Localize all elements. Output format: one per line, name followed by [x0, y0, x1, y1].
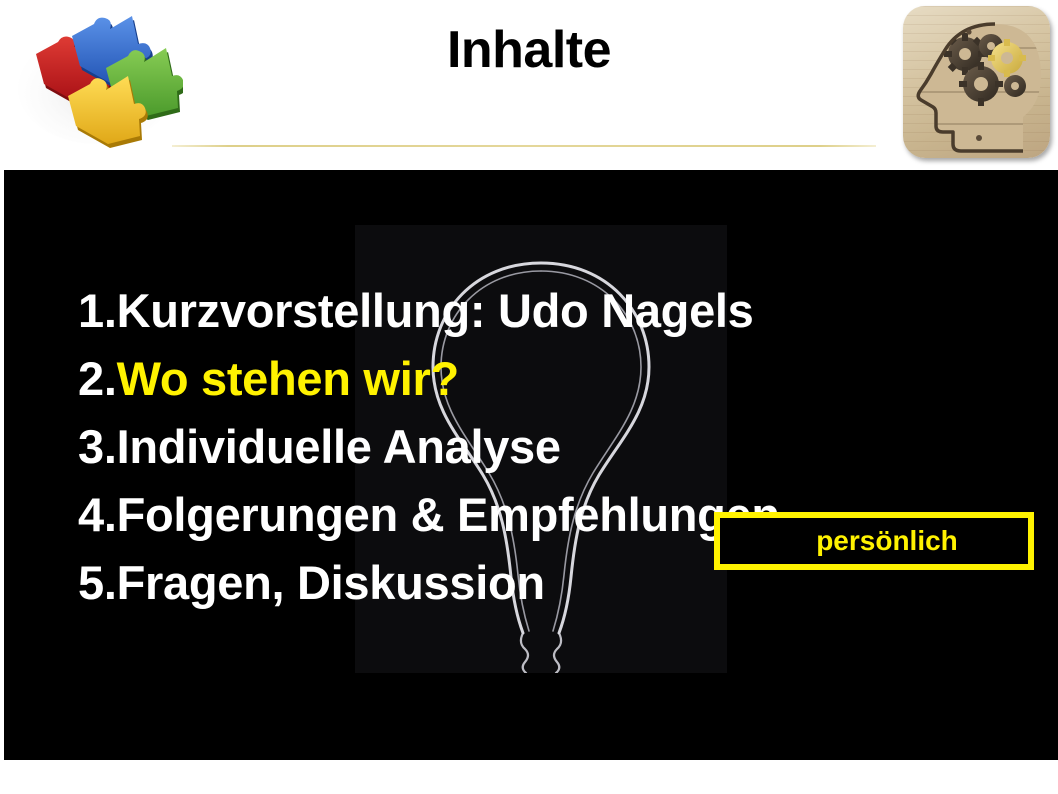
- list-item-label: Fragen, Diskussion: [117, 556, 545, 609]
- list-item[interactable]: 3.Individuelle Analyse: [78, 413, 1008, 481]
- list-item-label: Kurzvorstellung: Udo Nagels: [117, 284, 754, 337]
- list-item[interactable]: 1.Kurzvorstellung: Udo Nagels: [78, 277, 1008, 345]
- head-with-gears-icon: [903, 6, 1050, 158]
- list-item-number: 3.: [78, 420, 117, 473]
- content-panel: 1.Kurzvorstellung: Udo Nagels 2.Wo stehe…: [4, 170, 1058, 760]
- list-item[interactable]: 2.Wo stehen wir?: [78, 345, 1008, 413]
- list-item-number: 2.: [78, 352, 117, 405]
- list-item-number: 1.: [78, 284, 117, 337]
- list-item-label: Wo stehen wir?: [117, 352, 459, 405]
- list-item-number: 4.: [78, 488, 117, 541]
- callout-label: persönlich: [790, 527, 958, 555]
- list-item-label: Individuelle Analyse: [117, 420, 561, 473]
- list-item-number: 5.: [78, 556, 117, 609]
- list-item-label: Folgerungen & Empfehlungen: [117, 488, 780, 541]
- persoenlich-callout-box: persönlich: [714, 512, 1034, 570]
- slide-header: Inhalte: [0, 0, 1058, 170]
- title-divider: [172, 145, 876, 147]
- page-title: Inhalte: [0, 24, 1058, 76]
- presentation-slide: Inhalte: [0, 0, 1058, 794]
